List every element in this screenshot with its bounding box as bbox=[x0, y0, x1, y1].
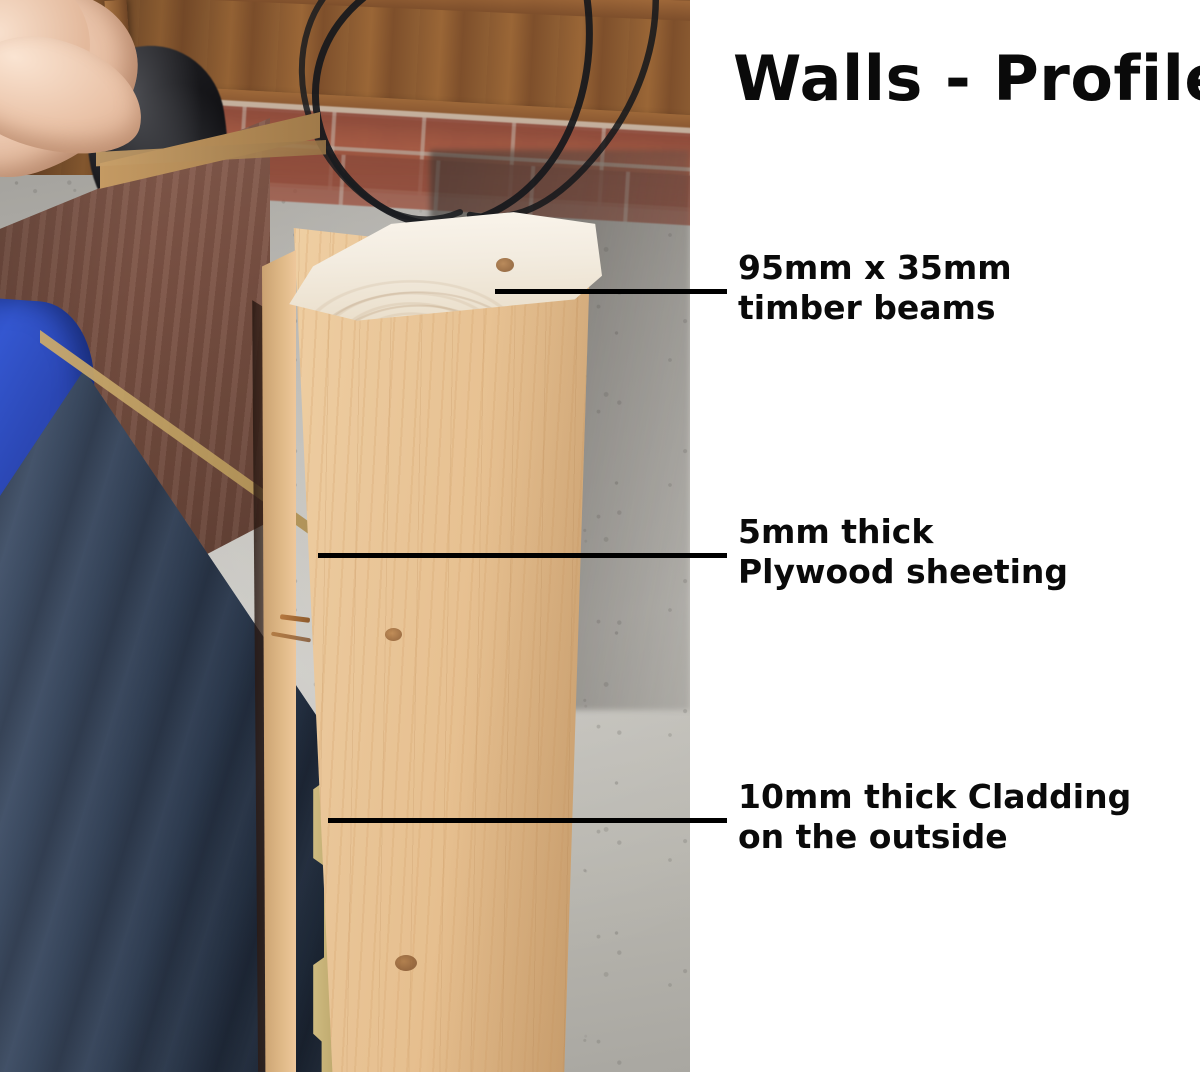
timber-knot bbox=[395, 955, 417, 971]
annotation-plywood-sheeting: 5mm thick Plywood sheeting bbox=[738, 512, 1068, 592]
page-title: Walls - Profile bbox=[733, 42, 1200, 115]
timber-post-left-edge bbox=[262, 250, 296, 1072]
annotation-timber-beams-line2: timber beams bbox=[738, 288, 1012, 328]
annotation-timber-beams: 95mm x 35mm timber beams bbox=[738, 248, 1012, 328]
annotation-cladding: 10mm thick Cladding on the outside bbox=[738, 777, 1131, 857]
leader-line-timber-beams bbox=[495, 289, 727, 294]
annotation-plywood-sheeting-line2: Plywood sheeting bbox=[738, 552, 1068, 592]
timber-knot bbox=[385, 628, 402, 641]
wall-profile-photo bbox=[0, 0, 690, 1072]
annotation-cladding-line1: 10mm thick Cladding bbox=[738, 777, 1131, 817]
annotation-plywood-sheeting-line1: 5mm thick bbox=[738, 512, 1068, 552]
leader-line-cladding bbox=[328, 818, 727, 823]
timber-knot bbox=[496, 258, 514, 272]
screenshot-root: Walls - Profile 95mm x 35mm timber beams… bbox=[0, 0, 1200, 1072]
annotation-timber-beams-line1: 95mm x 35mm bbox=[738, 248, 1012, 288]
leader-line-plywood-sheeting bbox=[318, 553, 727, 558]
annotation-panel: Walls - Profile 95mm x 35mm timber beams… bbox=[690, 0, 1200, 1072]
annotation-cladding-line2: on the outside bbox=[738, 817, 1131, 857]
